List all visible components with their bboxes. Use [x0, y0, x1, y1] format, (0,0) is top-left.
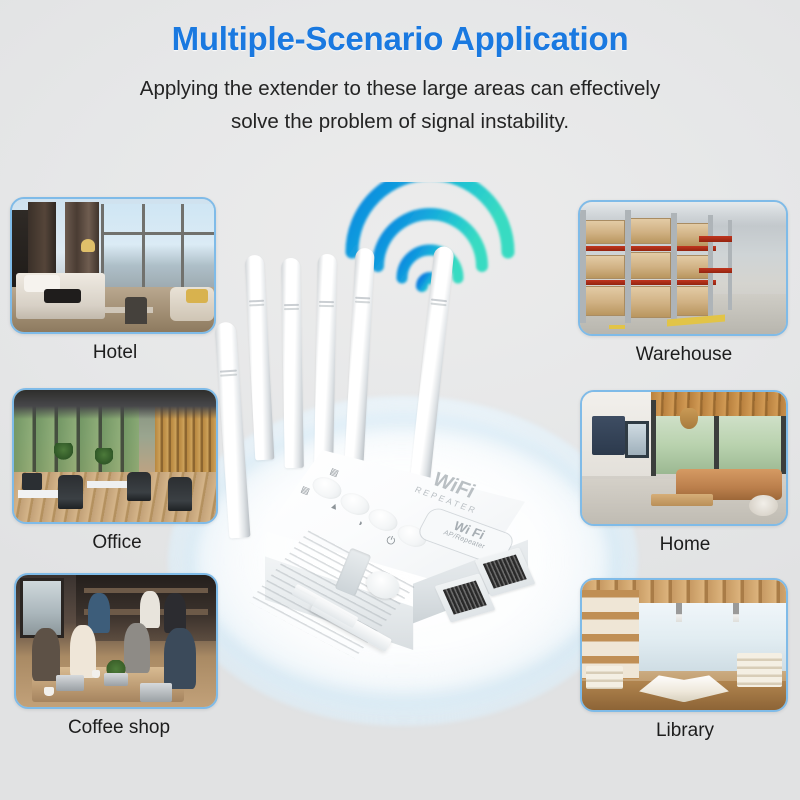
caption-hotel: Hotel	[10, 342, 220, 364]
coffee-shop-photo	[16, 575, 216, 707]
antenna-2	[281, 258, 304, 468]
subtitle-line-2: solve the problem of signal instability.	[80, 105, 720, 138]
caption-home: Home	[580, 534, 790, 556]
caption-library: Library	[580, 720, 790, 742]
photo-frame-home	[580, 390, 788, 526]
antenna-3	[314, 254, 337, 469]
product-marketing-image: Multiple-Scenario Application Applying t…	[0, 0, 800, 800]
subtitle-line-1: Applying the extender to these large are…	[80, 72, 720, 105]
scenario-card-home[interactable]: Home	[580, 390, 790, 575]
antenna-4	[344, 248, 375, 471]
caption-coffeeshop: Coffee shop	[14, 717, 224, 739]
photo-frame-library	[580, 578, 788, 712]
page-subtitle: Applying the extender to these large are…	[80, 58, 720, 138]
open-office-photo	[14, 390, 216, 522]
scenario-card-hotel[interactable]: Hotel	[10, 197, 220, 382]
photo-frame-coffeeshop	[14, 573, 218, 709]
header: Multiple-Scenario Application Applying t…	[0, 0, 800, 138]
library-open-book-photo	[582, 580, 786, 710]
page-title: Multiple-Scenario Application	[0, 0, 800, 58]
warehouse-racks-photo	[580, 202, 786, 334]
hotel-room-photo	[12, 199, 214, 332]
antenna-6	[409, 246, 454, 489]
scenario-card-library[interactable]: Library	[580, 578, 790, 763]
wifi-range-extender: ▤ ▤ ▲ ◗ ⏻ WiFi REPEATER Wi Fi AP/Repeate…	[190, 200, 610, 720]
photo-frame-office	[12, 388, 218, 524]
living-room-photo	[582, 392, 786, 524]
photo-frame-hotel	[10, 197, 216, 334]
antenna-1	[245, 255, 275, 461]
antenna-5	[214, 322, 250, 539]
